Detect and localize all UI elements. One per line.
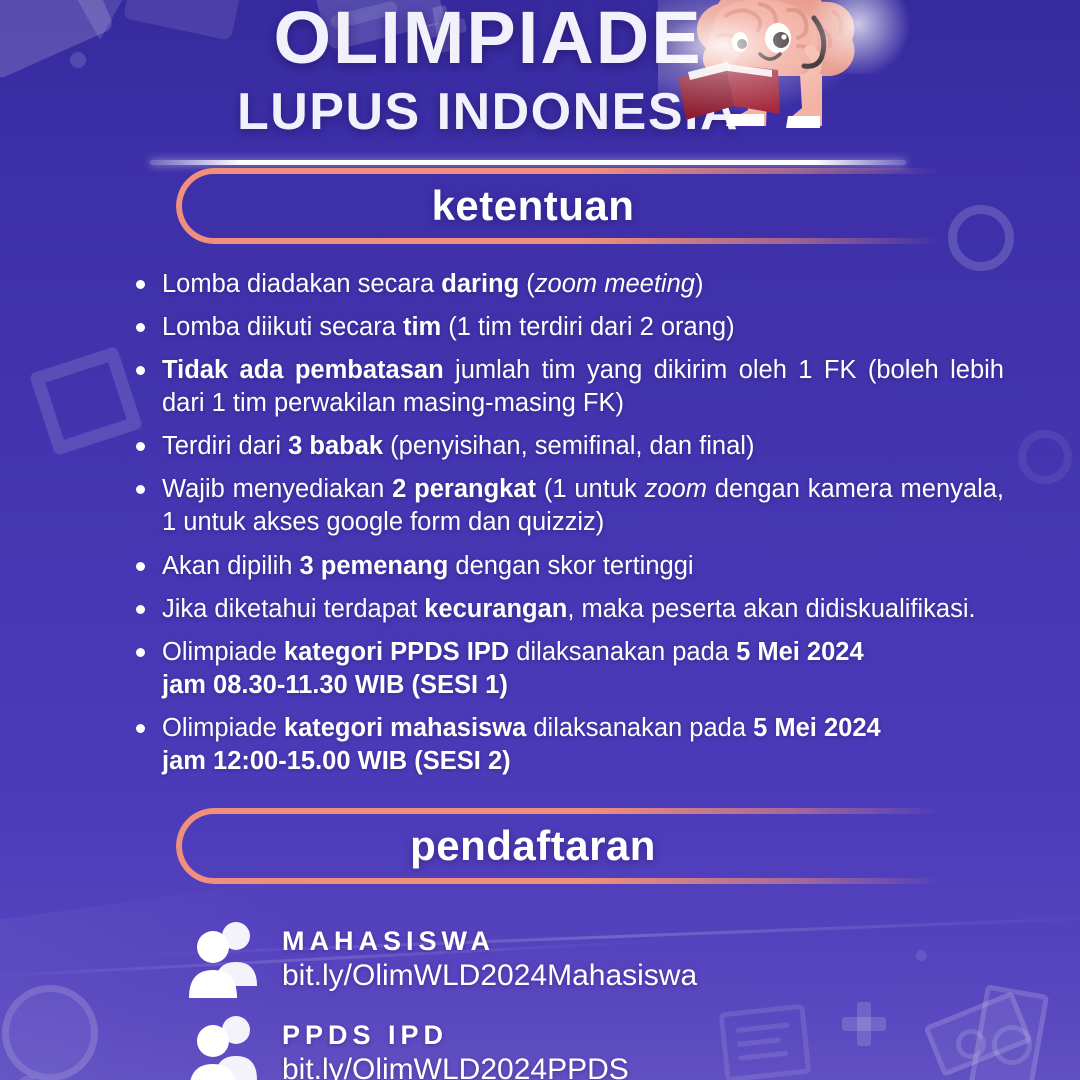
- rule-text-fragment: (1 tim terdiri dari 2 orang): [441, 313, 734, 341]
- rule-text-fragment: daring: [441, 270, 519, 298]
- rule-item: Lomba diikuti secara tim (1 tim terdiri …: [128, 311, 1004, 344]
- rule-text-fragment: 5 Mei 2024: [753, 714, 881, 742]
- section-label-pendaftaran: pendaftaran: [176, 808, 890, 884]
- rule-text-fragment: Olimpiade: [162, 638, 284, 666]
- rule-text-fragment: dengan skor tertinggi: [448, 552, 693, 580]
- people-group-icon: [186, 1014, 268, 1080]
- rule-text-fragment: zoom meeting: [535, 270, 695, 298]
- page-subtitle: LUPUS INDONESIA: [0, 85, 1080, 140]
- rule-text-fragment: dilaksanakan pada: [526, 714, 753, 742]
- registration-text: PPDS IPDbit.ly/OlimWLD2024PPDS: [282, 1020, 629, 1080]
- rule-text-fragment: ): [695, 270, 704, 298]
- registration-row[interactable]: PPDS IPDbit.ly/OlimWLD2024PPDS: [186, 1014, 1080, 1080]
- rule-item: Lomba diadakan secara daring (zoom meeti…: [128, 268, 1004, 301]
- rule-text-fragment: Lomba diikuti secara: [162, 313, 403, 341]
- rule-text-fragment: Jika diketahui terdapat: [162, 595, 424, 623]
- rule-text-fragment: (: [519, 270, 535, 298]
- registration-link[interactable]: bit.ly/OlimWLD2024Mahasiswa: [282, 959, 697, 993]
- rule-item: Olimpiade kategori PPDS IPD dilaksanakan…: [128, 636, 1004, 702]
- mascot-glow-2: [798, 0, 918, 74]
- rule-text-fragment: jam 08.30-11.30 WIB (SESI 1): [162, 671, 508, 699]
- rule-text-fragment: (1 untuk: [536, 475, 645, 503]
- poster-canvas: OLIMPIADE LUPUS INDONESIA: [0, 0, 1080, 1080]
- section-ketentuan-header: ketentuan: [0, 168, 1080, 254]
- rule-text-fragment: 3 babak: [288, 432, 383, 460]
- people-group-icon: [186, 920, 268, 998]
- rule-text-fragment: Tidak ada pembatasan: [162, 356, 444, 384]
- rule-item: Tidak ada pembatasan jumlah tim yang dik…: [128, 354, 1004, 420]
- rule-item: Akan dipilih 3 pemenang dengan skor tert…: [128, 550, 1004, 583]
- registration-link[interactable]: bit.ly/OlimWLD2024PPDS: [282, 1053, 629, 1080]
- rule-text-fragment: 2 perangkat: [392, 475, 536, 503]
- rule-text-fragment: kategori PPDS IPD: [284, 638, 509, 666]
- rule-text-fragment: dilaksanakan pada: [509, 638, 736, 666]
- rule-text-fragment: Lomba diadakan secara: [162, 270, 441, 298]
- rule-text-fragment: (penyisihan, semifinal, dan final): [383, 432, 754, 460]
- rule-text-fragment: Wajib menyediakan: [162, 475, 392, 503]
- rule-item: Terdiri dari 3 babak (penyisihan, semifi…: [128, 430, 1004, 463]
- rule-text-fragment: zoom: [645, 475, 707, 503]
- rule-text-fragment: kategori mahasiswa: [284, 714, 526, 742]
- section-label-ketentuan: ketentuan: [176, 168, 890, 244]
- rule-text-fragment: 5 Mei 2024: [736, 638, 864, 666]
- section-pendaftaran-header: pendaftaran: [0, 808, 1080, 894]
- rule-text-fragment: , maka peserta akan didiskualifikasi.: [567, 595, 975, 623]
- rule-item: Wajib menyediakan 2 perangkat (1 untuk z…: [128, 473, 1004, 539]
- page-title: OLIMPIADE: [0, 2, 1080, 73]
- header-divider: [150, 160, 906, 165]
- registration-category-label: MAHASISWA: [282, 926, 697, 957]
- rules-list: Lomba diadakan secara daring (zoom meeti…: [128, 268, 1040, 779]
- rule-text-fragment: kecurangan: [424, 595, 567, 623]
- rule-text-fragment: tim: [403, 313, 441, 341]
- rule-text-fragment: 3 pemenang: [300, 552, 449, 580]
- rule-item: Olimpiade kategori mahasiswa dilaksanaka…: [128, 712, 1004, 778]
- rule-text-fragment: Olimpiade: [162, 714, 284, 742]
- rule-item: Jika diketahui terdapat kecurangan, maka…: [128, 593, 1004, 626]
- registration-category-label: PPDS IPD: [282, 1020, 629, 1051]
- deco-square-outline: [29, 346, 143, 456]
- rule-text-fragment: jam 12:00-15.00 WIB (SESI 2): [162, 747, 511, 775]
- registration-row[interactable]: MAHASISWAbit.ly/OlimWLD2024Mahasiswa: [186, 920, 1080, 998]
- rule-text-fragment: Terdiri dari: [162, 432, 288, 460]
- registration-list: MAHASISWAbit.ly/OlimWLD2024MahasiswaPPDS…: [0, 920, 1080, 1080]
- registration-text: MAHASISWAbit.ly/OlimWLD2024Mahasiswa: [282, 926, 697, 993]
- brain-mascot-icon: [648, 0, 900, 140]
- poster-header: OLIMPIADE LUPUS INDONESIA: [0, 0, 1080, 140]
- rule-text-fragment: Akan dipilih: [162, 552, 300, 580]
